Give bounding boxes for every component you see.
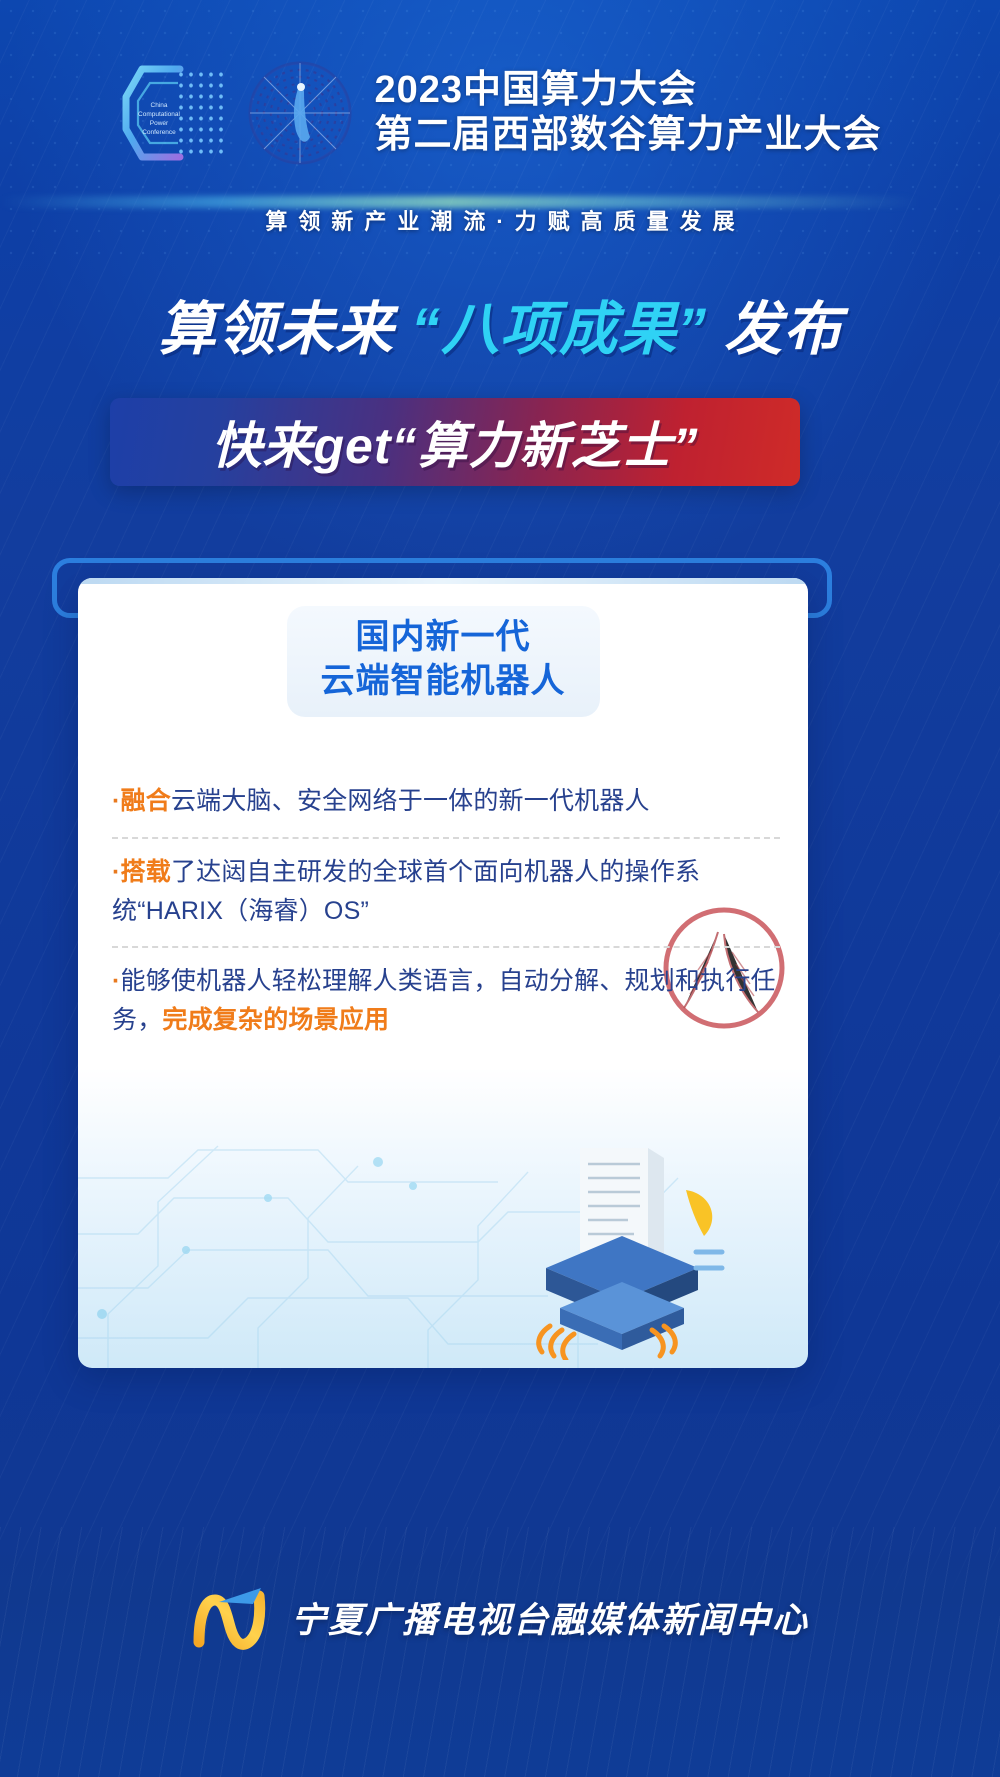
svg-text:Power: Power: [150, 120, 169, 127]
poster-root: China Computational Power Conference: [0, 0, 1000, 1777]
header-title-block: 2023中国算力大会 第二届西部数谷算力产业大会: [374, 68, 881, 158]
list-item: ·搭载了达闼自主研发的全球首个面向机器人的操作系统“HARIX（海睿）OS”: [112, 839, 780, 947]
bullet-highlight-1: 融合: [121, 787, 171, 815]
header-title-line2: 第二届西部数谷算力产业大会: [374, 113, 881, 158]
slogan-band: 算领新产业潮流·力赋高质量发展: [0, 196, 1000, 242]
main-title-line2: 快来get“算力新芝士”: [110, 398, 800, 486]
card-bullet-list: ·融合云端大脑、安全网络于一体的新一代机器人 ·搭载了达闼自主研发的全球首个面向…: [112, 768, 780, 1056]
main-title-part1: 算领未来: [158, 297, 411, 362]
isometric-server-illustration-icon: [488, 1140, 728, 1360]
bullet-text-2: 了达闼自主研发的全球首个面向机器人的操作系统“HARIX（海睿）OS”: [112, 858, 700, 925]
svg-text:Conference: Conference: [143, 129, 177, 136]
bullet-marker-2: ·: [112, 858, 121, 886]
card-title-pill: 国内新一代 云端智能机器人: [287, 606, 600, 717]
footer-brand-text: 宁夏广播电视台融媒体新闻中心: [291, 1592, 809, 1643]
main-title-line1: 算领未来 “八项成果” 发布: [0, 300, 1000, 361]
conference-hex-logo-icon: China Computational Power Conference: [118, 57, 226, 169]
bullet-marker-1: ·: [112, 787, 121, 815]
card-title-line2: 云端智能机器人: [321, 660, 566, 704]
result-card: 国内新一代 云端智能机器人 ·融合云端大脑、安全网络于一体的新一代机器人: [78, 578, 808, 1368]
bullet-text-1: 云端大脑、安全网络于一体的新一代机器人: [171, 787, 650, 815]
bullet-marker-3: ·: [112, 967, 121, 995]
footer: 宁夏广播电视台融媒体新闻中心: [0, 1527, 1000, 1777]
svg-text:Computational: Computational: [139, 111, 181, 118]
footer-wave-pattern: [0, 1527, 1000, 1777]
ningxia-n-logo-icon: [191, 1582, 277, 1652]
card-top-sheen: [78, 578, 808, 584]
svg-text:China: China: [151, 102, 168, 109]
bullet-trailing-highlight-3: 完成复杂的场景应用: [162, 1006, 389, 1034]
list-item: ·融合云端大脑、安全网络于一体的新一代机器人: [112, 768, 780, 837]
card-title-line1: 国内新一代: [321, 616, 566, 660]
bullet-highlight-2: 搭载: [121, 858, 171, 886]
main-title-part2: “八项成果”: [411, 297, 707, 362]
conference-peacock-logo-icon: [244, 57, 356, 169]
list-item: ·能够使机器人轻松理解人类语言，自动分解、规划和执行任务，完成复杂的场景应用: [112, 948, 780, 1056]
main-title-part3: 发布: [707, 297, 842, 362]
header-title-line1: 2023中国算力大会: [374, 68, 697, 113]
footer-brand-row: 宁夏广播电视台融媒体新闻中心: [0, 1582, 1000, 1652]
slogan-text: 算领新产业潮流·力赋高质量发展: [0, 204, 1000, 236]
card-title-block: 国内新一代 云端智能机器人: [78, 606, 808, 717]
header: China Computational Power Conference: [0, 48, 1000, 178]
